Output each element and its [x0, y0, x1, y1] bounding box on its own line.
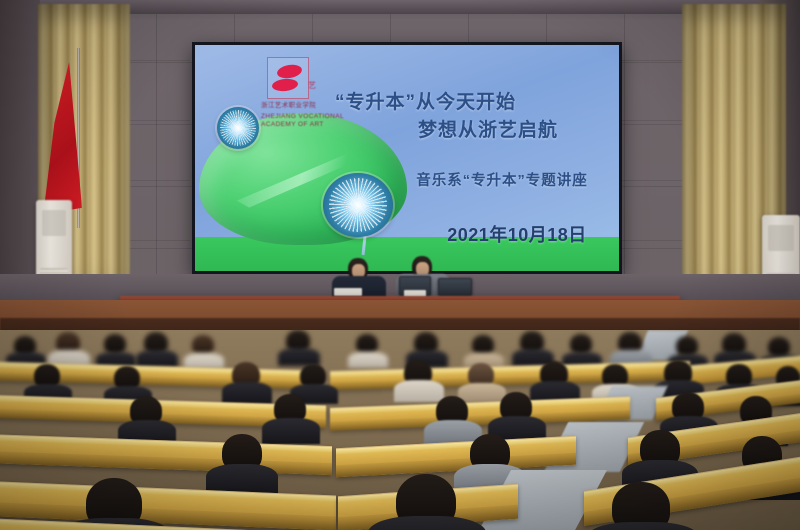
dandelion-rays-large [329, 178, 388, 232]
slide-date: 2021年10月18日 [417, 221, 617, 247]
logo-blob-upper [276, 63, 303, 80]
presentation-slide: 艺 浙江艺术职业学院 ZHEJIANG VOCATIONAL ACADEMY O… [195, 45, 619, 271]
dandelion-rays-small [220, 110, 255, 145]
projector-screen: 艺 浙江艺术职业学院 ZHEJIANG VOCATIONAL ACADEMY O… [192, 42, 622, 274]
audience-shoulder [262, 418, 320, 444]
laptop-secondary-screen [439, 279, 471, 295]
desk-front [0, 451, 332, 475]
lecture-hall-photo: 艺 浙江艺术职业学院 ZHEJIANG VOCATIONAL ACADEMY O… [0, 0, 800, 530]
audience-shoulder [222, 382, 272, 404]
ac-panel-left [42, 210, 66, 236]
audience-shoulder [348, 352, 388, 368]
audience-head [104, 334, 126, 354]
logo-cn-mark: 艺 [308, 80, 317, 91]
audience-shoulder [458, 383, 506, 403]
audience-head [472, 335, 494, 355]
logo-blob-lower [271, 78, 298, 93]
audience-head [192, 335, 214, 355]
audience-head [768, 337, 790, 357]
slide-title-line2: 梦想从浙艺启航 [335, 117, 615, 145]
audience-shoulder-foreground [586, 522, 700, 530]
audience-head [356, 334, 378, 354]
dandelion-icon-small [217, 107, 259, 149]
audience-head [676, 336, 698, 356]
laptop-secondary [438, 278, 472, 296]
audience-head [570, 334, 592, 354]
slide-subtitle: 音乐系“专升本”专题讲座 [383, 169, 619, 190]
desk-surface [0, 481, 336, 501]
papers-left [334, 288, 362, 296]
audience-shoulder [394, 380, 444, 402]
audience-area [0, 330, 800, 530]
slide-title: “专升本”从今天开始 梦想从浙艺启航 [335, 89, 615, 145]
slide-title-line1: “专升本”从今天开始 [335, 92, 516, 113]
ac-panel-right [768, 225, 794, 251]
logo-mark: 艺 [267, 57, 309, 99]
